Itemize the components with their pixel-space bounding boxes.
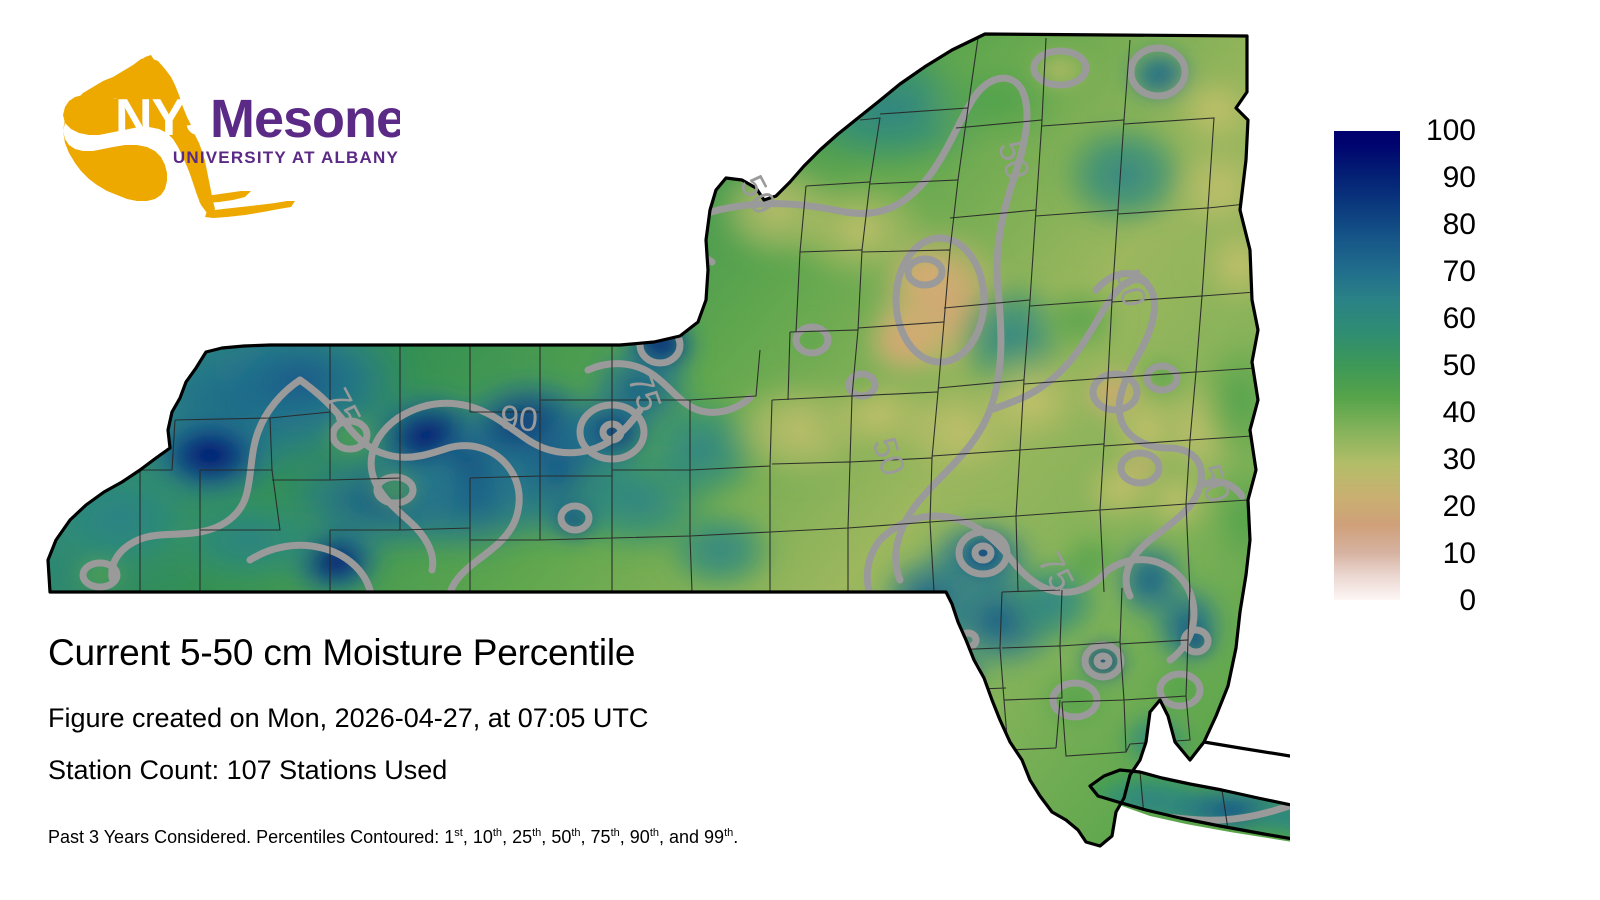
colorbar-panel: 100 90 80 70 60 50 40 30 20 10 0 [1300, 110, 1590, 630]
footnote-sep-2: , [502, 827, 512, 847]
nys-mesonet-logo: NYS Mesonet UNIVERSITY AT ALBANY [55, 55, 400, 225]
footnote-p1-suffix: st [454, 827, 463, 839]
footnote-p6: 90 [630, 827, 650, 847]
colorbar-tick-40: 40 [1410, 398, 1476, 428]
figure-title: Current 5-50 cm Moisture Percentile [48, 631, 635, 675]
figure-footnote: Past 3 Years Considered. Percentiles Con… [48, 826, 738, 848]
colorbar-tick-20: 20 [1410, 492, 1476, 522]
footnote-p3-suffix: th [532, 827, 541, 839]
colorbar-tick-50: 50 [1410, 351, 1476, 381]
footnote-p2-suffix: th [493, 827, 502, 839]
footnote-p5-suffix: th [611, 827, 620, 839]
footnote-sep-3: , [541, 827, 551, 847]
logo-subtitle: UNIVERSITY AT ALBANY [173, 148, 399, 167]
footnote-sep-4: , [581, 827, 591, 847]
colorbar-tick-100: 100 [1410, 116, 1476, 146]
footnote-p7-suffix: th [724, 827, 733, 839]
colorbar-tick-0: 0 [1410, 586, 1476, 616]
footnote-p7: 99 [704, 827, 724, 847]
footnote-end: . [733, 827, 738, 847]
footnote-p2: 10 [473, 827, 493, 847]
footnote-lead: Past 3 Years Considered. Percentiles Con… [48, 827, 444, 847]
contour-label: 90 [498, 398, 539, 439]
colorbar-tick-70: 70 [1410, 257, 1476, 287]
footnote-p6-suffix: th [650, 827, 659, 839]
footnote-p3: 25 [512, 827, 532, 847]
logo-mesonet-text: Mesonet [210, 89, 400, 149]
footnote-and: , and [659, 827, 704, 847]
colorbar-tick-10: 10 [1410, 539, 1476, 569]
footnote-p4-suffix: th [571, 827, 580, 839]
contour-label: 50 [1108, 265, 1153, 310]
footnote-sep-5: , [620, 827, 630, 847]
footnote-p4: 50 [551, 827, 571, 847]
colorbar-tick-80: 80 [1410, 210, 1476, 240]
footnote-sep-1: , [463, 827, 473, 847]
logo-nys-text: NYS [115, 89, 219, 147]
colorbar-tick-90: 90 [1410, 163, 1476, 193]
colorbar-tick-60: 60 [1410, 304, 1476, 334]
colorbar-gradient [1334, 131, 1400, 600]
station-count-line: Station Count: 107 Stations Used [48, 754, 447, 786]
figure-created-line: Figure created on Mon, 2026-04-27, at 07… [48, 702, 648, 734]
footnote-p1: 1 [444, 827, 454, 847]
footnote-p5: 75 [591, 827, 611, 847]
colorbar-tick-30: 30 [1410, 445, 1476, 475]
